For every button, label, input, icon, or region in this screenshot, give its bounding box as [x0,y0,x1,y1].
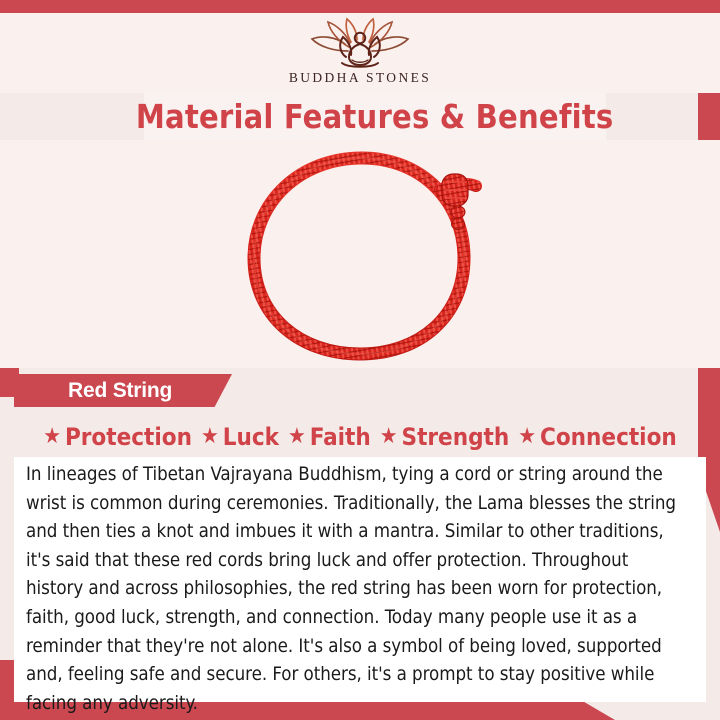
brand-name: BUDDHA STONES [0,70,720,86]
benefit-label: Strength [402,423,510,451]
brand-header: BUDDHA STONES [0,13,720,93]
star-icon: ★ [288,426,306,448]
star-icon: ★ [380,426,398,448]
benefit-item: ★ Faith [288,423,371,451]
benefit-item: ★ Strength [380,423,509,451]
brand-logo: BUDDHA STONES [0,13,720,86]
red-braided-string-bracelet-icon [226,148,494,364]
description-paragraph: In lineages of Tibetan Vajrayana Buddhis… [14,457,706,718]
star-icon: ★ [43,426,61,448]
bottom-left-accent-bar [0,660,14,720]
benefit-item: ★ Protection [43,423,192,451]
description-card: In lineages of Tibetan Vajrayana Buddhis… [14,457,706,702]
product-tag-label: Red String [68,379,172,403]
star-icon: ★ [201,426,219,448]
page-title: Material Features & Benefits [136,97,614,136]
title-banner: Material Features & Benefits [144,93,606,140]
product-tag-banner: Red String [14,374,232,407]
benefit-label: Connection [540,423,677,451]
benefit-item: ★ Luck [201,423,279,451]
top-accent-bar [0,0,720,13]
benefit-label: Faith [310,423,371,451]
product-image-area [0,140,720,368]
benefit-label: Protection [65,423,192,451]
benefits-list: ★ Protection ★ Luck ★ Faith ★ Strength ★… [0,418,720,456]
lotus-meditation-icon [304,17,416,69]
benefit-label: Luck [223,423,279,451]
infographic-root: BUDDHA STONES Material Features & Benefi… [0,0,720,720]
star-icon: ★ [518,426,536,448]
benefit-item: ★ Connection [518,423,677,451]
